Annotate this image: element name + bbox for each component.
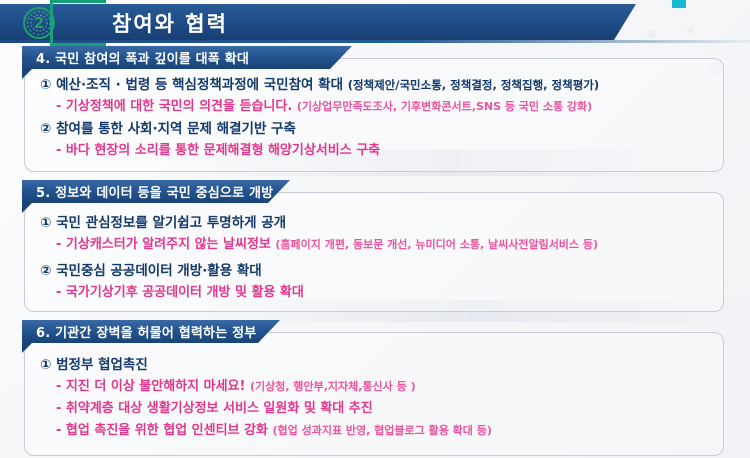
item-text: - 바다 현장의 소리를 통한 문제해결형 해양기상서비스 구축 [56, 143, 380, 158]
item-text: - 협업 촉진을 위한 협업 인센티브 강화 [56, 423, 272, 438]
list-item: ② 참여를 통한 사회·지역 문제 해결기반 구축 [34, 118, 724, 140]
item-paren: (협업 성과지표 반영, 협업블로그 활용 확대 등) [272, 424, 491, 437]
list-item: ② 국민중심 공공데이터 개방·활용 확대 [34, 260, 724, 282]
section-banner-label: 6. 기관간 장벽을 허물어 협력하는 정부 [22, 322, 256, 341]
list-item: - 협업 촉진을 위한 협업 인센티브 강화 (협업 성과지표 반영, 협업블로… [34, 420, 724, 442]
section-banner-label: 5. 정보와 데이터 등을 국민 중심으로 개방 [22, 182, 273, 201]
item-paren: (기상업무만족도조사, 기후변화콘서트,SNS 등 국민 소통 강화) [297, 100, 592, 113]
section-banner-label: 4. 국민 참여의 폭과 깊이를 대폭 확대 [22, 48, 249, 67]
section-banner: 5. 정보와 데이터 등을 국민 중심으로 개방 [22, 180, 290, 203]
green-circular-seal-icon: 2 [22, 6, 56, 40]
background-dot [687, 27, 694, 34]
item-text: - 기상캐스터가 알려주지 않는 날씨정보 [56, 237, 275, 252]
item-text: - 지진 더 이상 불안해하지 마세요! [56, 379, 250, 394]
list-item: - 취약계층 대상 생활기상정보 서비스 일원화 및 확대 추진 [34, 398, 724, 420]
item-text: ① 범정부 협업촉진 [40, 357, 148, 373]
title-underline [0, 40, 750, 43]
section-items: ① 국민 관심정보를 알기쉽고 투명하게 공개 - 기상캐스터가 알려주지 않는… [34, 212, 724, 304]
section-block: 4. 국민 참여의 폭과 깊이를 대폭 확대 ① 예산·조직 · 법령 등 핵심… [0, 46, 750, 174]
presentation-slide: 참여와 협력 2 4. 국민 참여의 폭과 깊이를 대폭 확대 ① 예산·조직 … [0, 0, 750, 458]
list-item: - 기상캐스터가 알려주지 않는 날씨정보 (홈페이지 개편, 동보문 개선, … [34, 234, 724, 256]
section-items: ① 범정부 협업촉진 - 지진 더 이상 불안해하지 마세요! (기상청, 행안… [34, 354, 724, 442]
list-item: - 기상정책에 대한 국민의 의견을 듣습니다. (기상업무만족도조사, 기후변… [34, 96, 724, 118]
section-banner: 4. 국민 참여의 폭과 깊이를 대폭 확대 [22, 46, 352, 69]
section-banner: 6. 기관간 장벽을 허물어 협력하는 정부 [22, 320, 280, 343]
item-text: ② 국민중심 공공데이터 개방·활용 확대 [40, 263, 262, 279]
section-items: ① 예산·조직 · 법령 등 핵심정책과정에 국민참여 확대 (정책제안/국민소… [34, 74, 724, 162]
item-paren: (기상청, 행안부,지자체,통신사 등 ) [250, 380, 416, 393]
page-title: 참여와 협력 [112, 8, 228, 38]
item-text: ① 국민 관심정보를 알기쉽고 투명하게 공개 [40, 215, 286, 231]
item-paren: (홈페이지 개편, 동보문 개선, 뉴미디어 소통, 날씨사전알림서비스 등) [275, 238, 598, 251]
item-text: ② 참여를 통한 사회·지역 문제 해결기반 구축 [40, 121, 296, 137]
item-text: - 기상정책에 대한 국민의 의견을 듣습니다. [56, 99, 297, 114]
background-dot [647, 30, 656, 39]
section-block: 6. 기관간 장벽을 허물어 협력하는 정부 ① 범정부 협업촉진 - 지진 더… [0, 320, 750, 456]
section-block: 5. 정보와 데이터 등을 국민 중심으로 개방 ① 국민 관심정보를 알기쉽고… [0, 180, 750, 312]
seal-number: 2 [22, 6, 56, 40]
list-item: ① 국민 관심정보를 알기쉽고 투명하게 공개 [34, 212, 724, 234]
list-item: - 국가기상기후 공공데이터 개방 및 활용 확대 [34, 282, 724, 304]
item-paren: (정책제안/국민소통, 정책결정, 정책집행, 정책평가) [348, 78, 599, 92]
list-item: ① 예산·조직 · 법령 등 핵심정책과정에 국민참여 확대 (정책제안/국민소… [34, 74, 724, 96]
list-item: ① 범정부 협업촉진 [34, 354, 724, 376]
seal-bracket-decoration [50, 0, 106, 46]
list-item: - 바다 현장의 소리를 통한 문제해결형 해양기상서비스 구축 [34, 140, 724, 162]
item-text: - 취약계층 대상 생활기상정보 서비스 일원화 및 확대 추진 [56, 401, 373, 416]
cyan-accent-square [672, 0, 686, 8]
item-text: - 국가기상기후 공공데이터 개방 및 활용 확대 [56, 285, 304, 300]
list-item: - 지진 더 이상 불안해하지 마세요! (기상청, 행안부,지자체,통신사 등… [34, 376, 724, 398]
item-text: ① 예산·조직 · 법령 등 핵심정책과정에 국민참여 확대 [40, 77, 348, 93]
